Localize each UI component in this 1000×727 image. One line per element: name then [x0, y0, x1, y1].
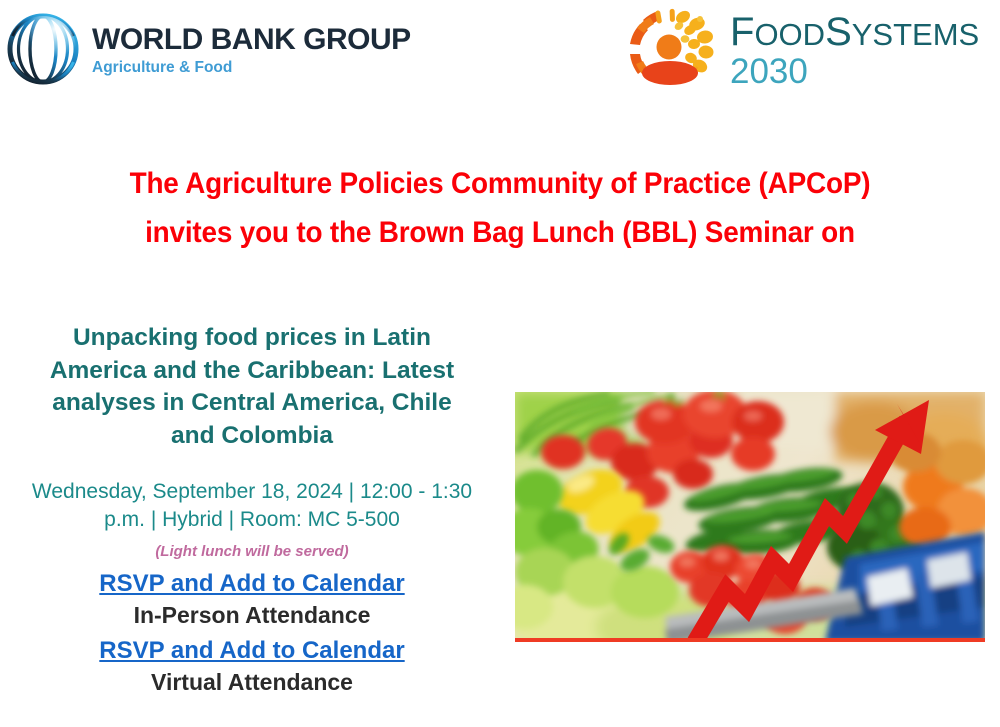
rsvp-block: RSVP and Add to Calendar In-Person Atten… [12, 568, 492, 697]
rsvp-in-person-caption: In-Person Attendance [12, 600, 492, 630]
food-systems-year: 2030 [730, 54, 979, 91]
rsvp-virtual-group: RSVP and Add to Calendar Virtual Attenda… [12, 635, 492, 698]
rsvp-in-person-link[interactable]: RSVP and Add to Calendar [12, 568, 492, 599]
world-bank-globe-icon [4, 6, 82, 90]
food-systems-name: FOODSYSTEMS [730, 12, 979, 52]
rsvp-virtual-caption: Virtual Attendance [12, 667, 492, 697]
headline-line-1: The Agriculture Policies Community of Pr… [35, 160, 965, 209]
world-bank-group-logo: WORLD BANK GROUP Agriculture & Food [4, 6, 411, 90]
world-bank-wordmark: WORLD BANK GROUP Agriculture & Food [92, 18, 411, 77]
food-systems-wordmark: FOODSYSTEMS 2030 [730, 10, 979, 91]
seminar-title: Unpacking food prices in Latin America a… [12, 322, 492, 452]
food-systems-2030-logo: FOODSYSTEMS 2030 [624, 4, 979, 96]
world-bank-subtitle: Agriculture & Food [92, 59, 411, 78]
seminar-datetime-location: Wednesday, September 18, 2024 | 12:00 - … [12, 478, 492, 534]
invitation-headline: The Agriculture Policies Community of Pr… [0, 160, 1000, 257]
world-bank-title: WORLD BANK GROUP [92, 24, 411, 56]
header-logos: WORLD BANK GROUP Agriculture & Food [0, 0, 1000, 110]
lunch-note: (Light lunch will be served) [12, 543, 492, 561]
rsvp-virtual-link[interactable]: RSVP and Add to Calendar [12, 635, 492, 666]
market-vegetables-photo [515, 392, 985, 642]
event-details-column: Unpacking food prices in Latin America a… [12, 322, 492, 697]
headline-line-2: invites you to the Brown Bag Lunch (BBL)… [35, 209, 965, 258]
food-systems-sun-icon [624, 4, 716, 96]
rsvp-in-person-group: RSVP and Add to Calendar In-Person Atten… [12, 568, 492, 631]
